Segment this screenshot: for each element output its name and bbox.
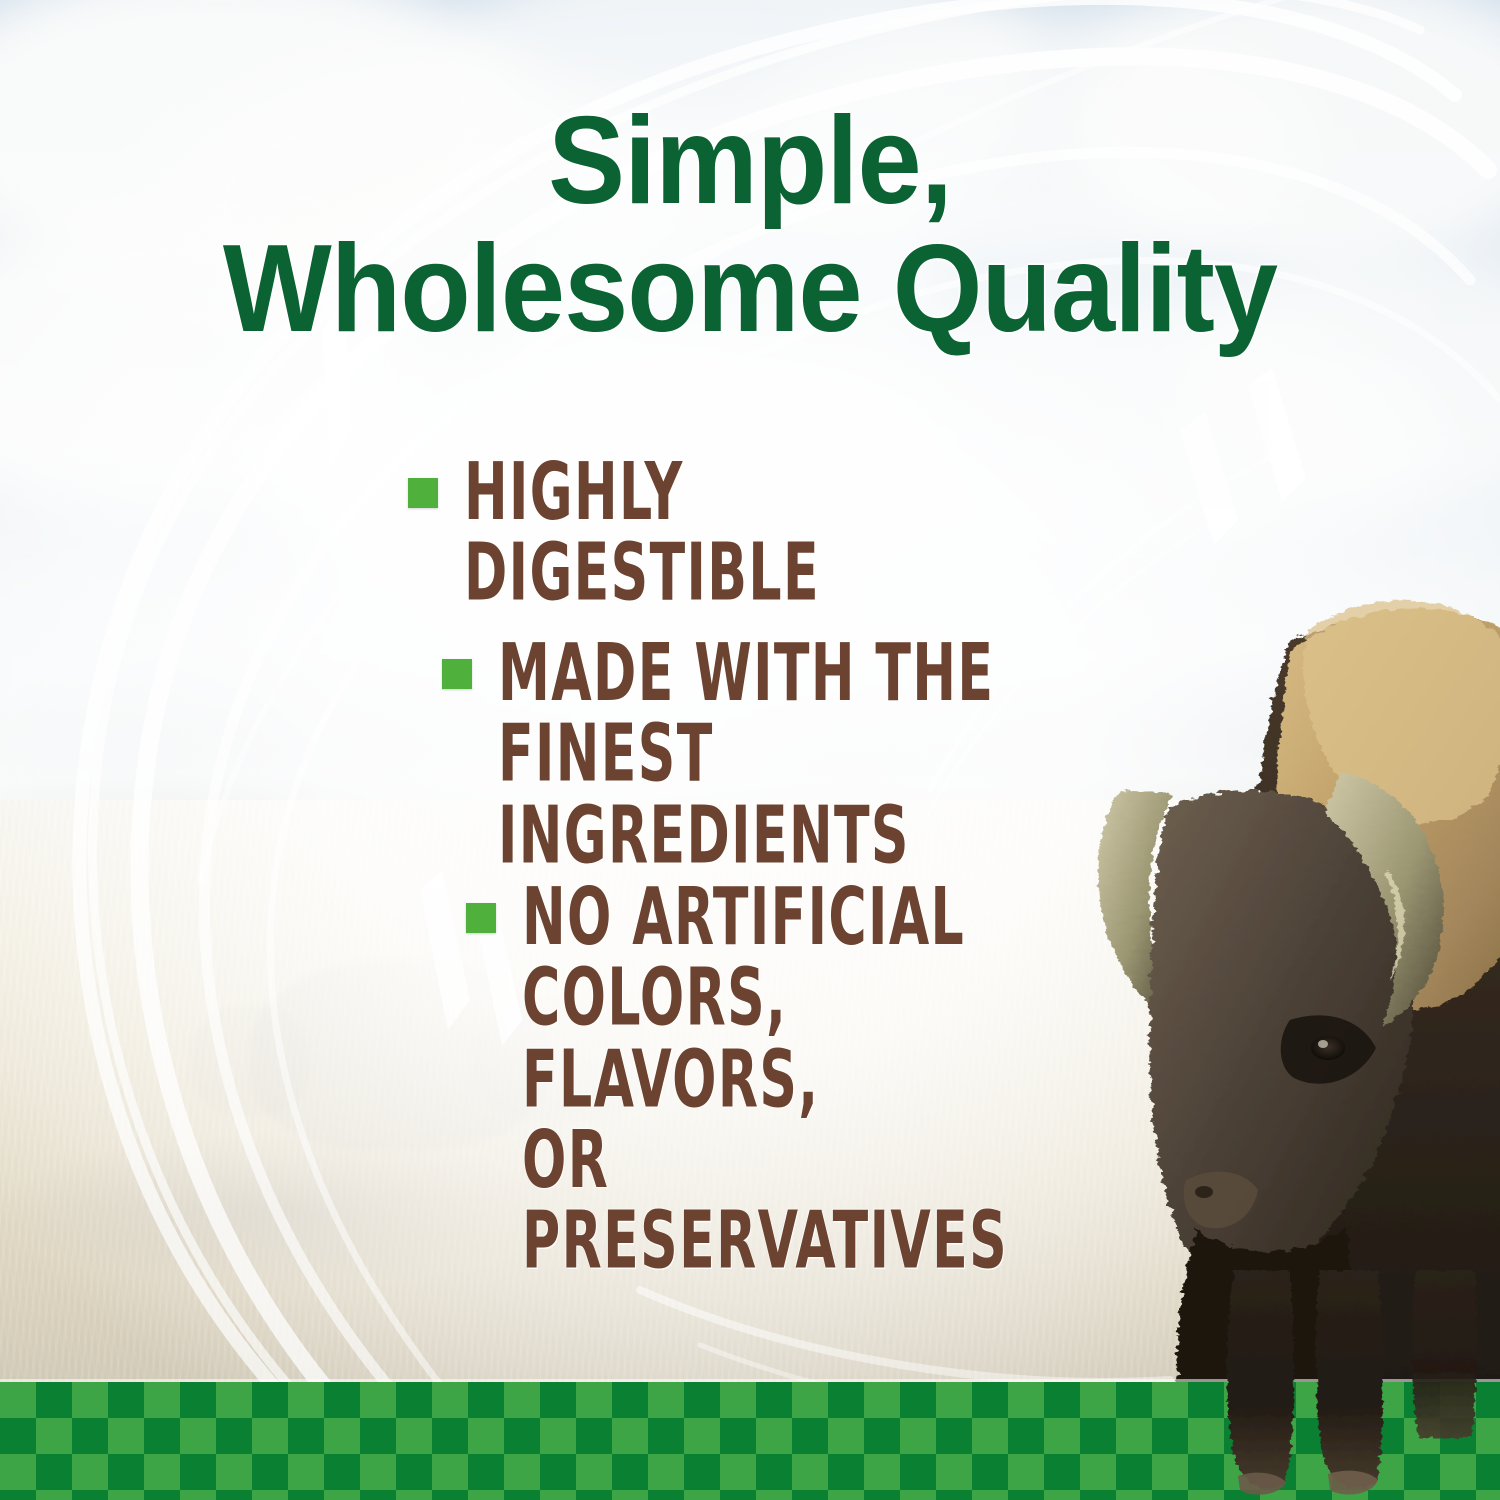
feature-bullet-list: HIGHLY DIGESTIBLE MADE WITH THE FINEST I… [330, 452, 1090, 1199]
list-item-label: HIGHLY DIGESTIBLE [464, 452, 1040, 614]
page-title: Simple, Wholesome Quality [53, 98, 1448, 353]
bison-legs [1180, 1270, 1500, 1500]
list-item: MADE WITH THE FINEST INGREDIENTS [330, 633, 1090, 826]
list-item: HIGHLY DIGESTIBLE [330, 452, 1090, 581]
list-item-label: MADE WITH THE FINEST INGREDIENTS [498, 633, 1043, 876]
green-square-bullet-icon [466, 903, 496, 933]
list-item: NO ARTIFICIAL COLORS, FLAVORS, OR PRESER… [330, 877, 1090, 1198]
green-square-bullet-icon [408, 478, 438, 508]
list-item-label: NO ARTIFICIAL COLORS, FLAVORS, OR PRESER… [522, 877, 1045, 1282]
product-feature-banner: Simple, Wholesome Quality HIGHLY DIGESTI… [0, 0, 1500, 1500]
green-square-bullet-icon [442, 659, 472, 689]
